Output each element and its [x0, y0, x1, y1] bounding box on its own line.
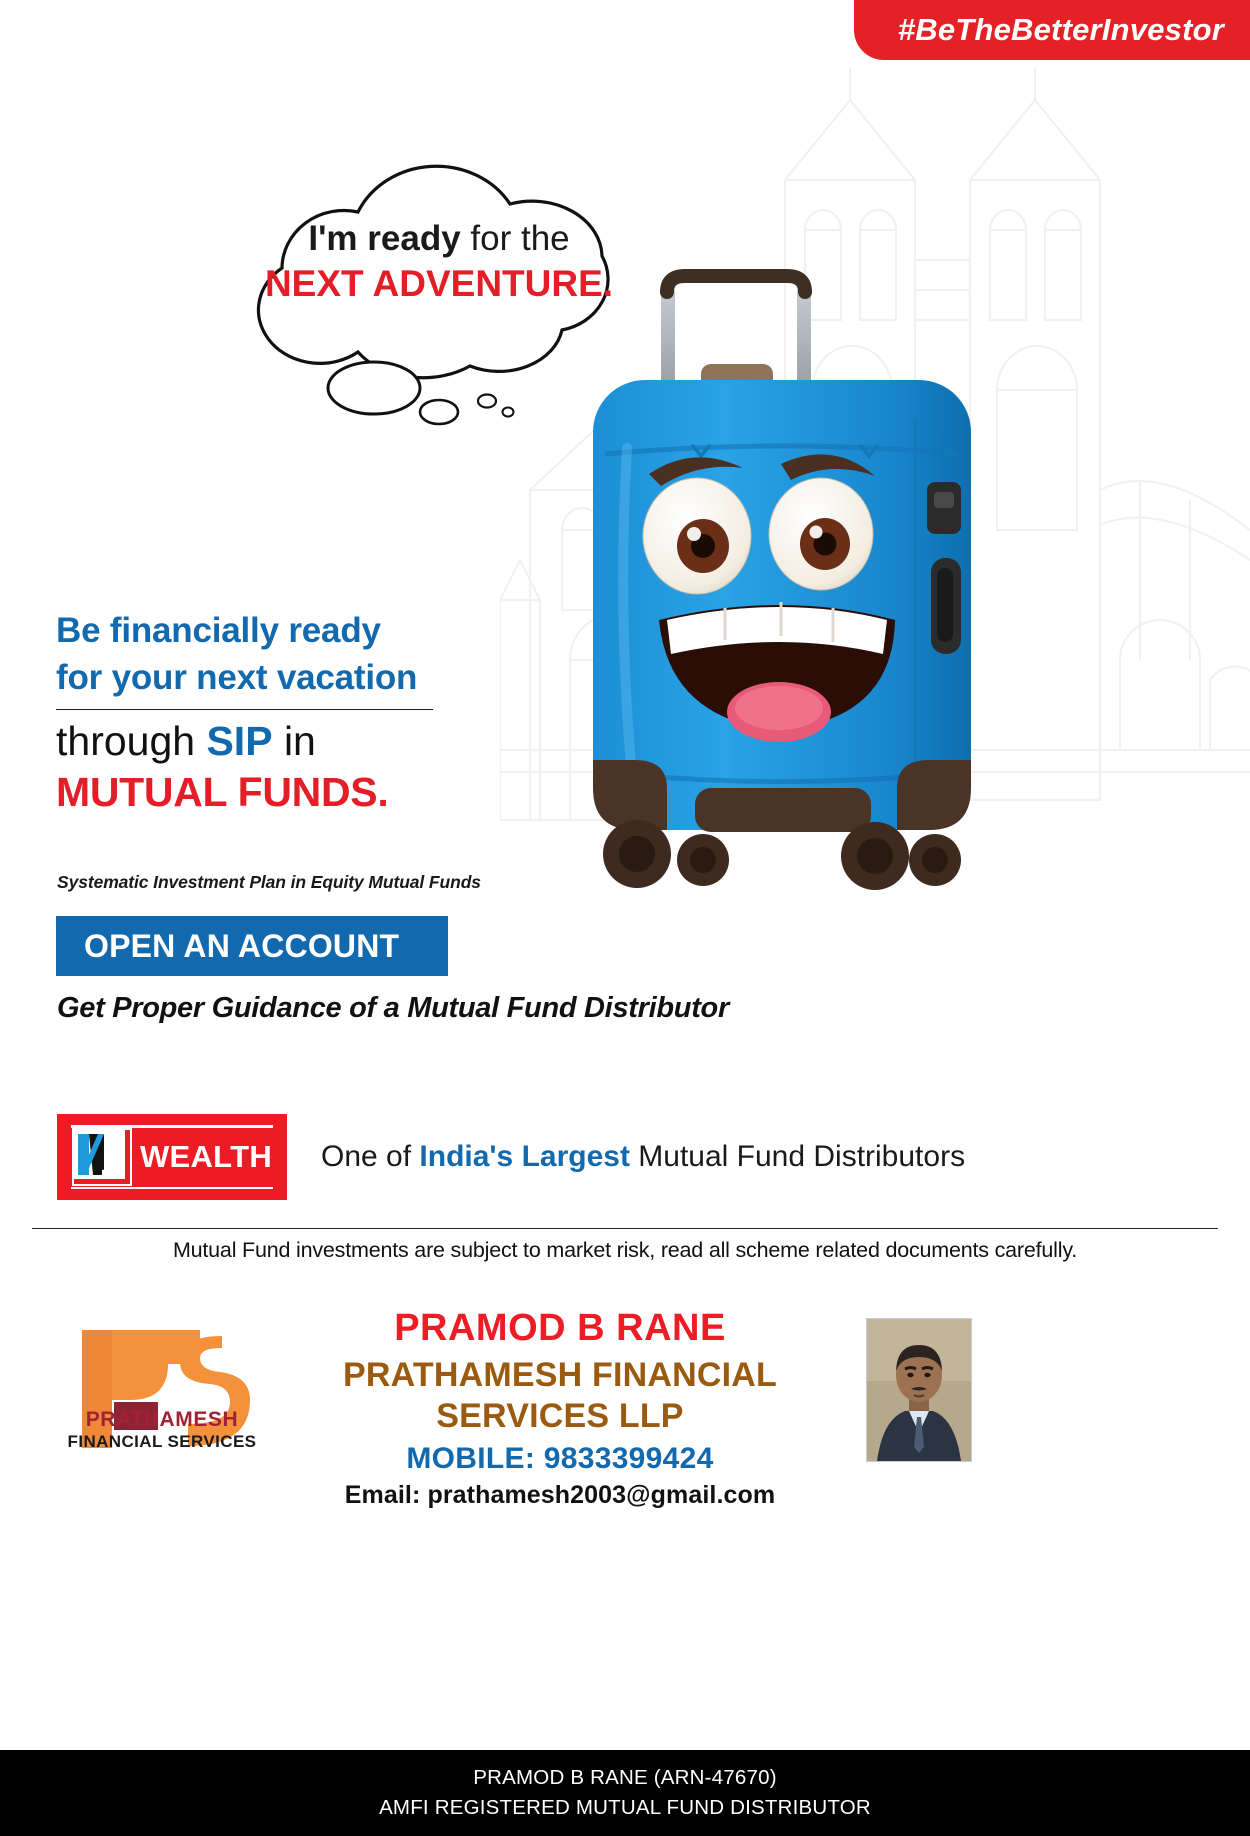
advisor-photo	[866, 1318, 972, 1462]
suitcase-character-illustration	[575, 268, 995, 908]
advisor-name: PRAMOD B RANE	[270, 1306, 850, 1351]
headline-divider	[56, 709, 433, 710]
headline-sip-bold: SIP	[206, 718, 272, 764]
nj-logo-rule-bottom	[71, 1187, 273, 1190]
nj-wealth-row: WEALTH One of India's Largest Mutual Fun…	[57, 1114, 965, 1200]
headline-blue-line-1: Be financially ready	[56, 608, 526, 655]
headline-sip-line: through SIP in	[56, 716, 526, 767]
hashtag-text: #BeTheBetterInvestor	[898, 12, 1224, 48]
nj-monogram-icon	[72, 1128, 132, 1186]
prathamesh-logo-name: PRATHAMESH	[72, 1408, 252, 1432]
sip-caption: Systematic Investment Plan in Equity Mut…	[57, 872, 481, 893]
advisor-firm: PRATHAMESH FINANCIAL SERVICES LLP	[270, 1355, 850, 1437]
flyer-page: #BeTheBetterInvestor I'm ready for the N…	[0, 0, 1250, 1836]
headline-blue-line-2: for your next vacation	[56, 655, 526, 702]
prathamesh-logo-subtitle: FINANCIAL SERVICES	[66, 1432, 258, 1452]
thought-bubble-line-1: I'm ready for the	[244, 218, 634, 259]
nj-tagline-suffix: Mutual Fund Distributors	[630, 1140, 965, 1173]
nj-tagline-bold: India's Largest	[419, 1140, 630, 1173]
advisor-email[interactable]: Email: prathamesh2003@gmail.com	[270, 1481, 850, 1510]
thought-bubble-rest: for the	[461, 219, 570, 258]
nj-wealth-logo: WEALTH	[57, 1114, 287, 1200]
footer-line-1: PRAMOD B RANE (ARN-47670)	[473, 1763, 776, 1793]
open-an-account-button[interactable]: OPEN AN ACCOUNT	[56, 916, 448, 976]
advisor-mobile[interactable]: MOBILE: 9833399424	[270, 1442, 850, 1476]
guidance-line: Get Proper Guidance of a Mutual Fund Dis…	[57, 992, 729, 1025]
open-an-account-label: OPEN AN ACCOUNT	[56, 928, 399, 965]
footer-line-2: AMFI REGISTERED MUTUAL FUND DISTRIBUTOR	[379, 1793, 871, 1823]
headline-block: Be financially ready for your next vacat…	[56, 608, 526, 817]
hashtag-banner: #BeTheBetterInvestor	[854, 0, 1250, 60]
disclaimer-text: Mutual Fund investments are subject to m…	[0, 1238, 1250, 1263]
disclaimer-divider	[32, 1228, 1218, 1229]
headline-sip-suffix: in	[273, 718, 316, 764]
footer-bar: PRAMOD B RANE (ARN-47670) AMFI REGISTERE…	[0, 1750, 1250, 1836]
thought-bubble-bold: I'm ready	[308, 219, 460, 258]
headline-mutual-funds: MUTUAL FUNDS.	[56, 767, 526, 817]
nj-wealth-text: WEALTH	[140, 1139, 272, 1175]
nj-tagline-prefix: One of	[321, 1140, 419, 1173]
nj-tagline: One of India's Largest Mutual Fund Distr…	[321, 1140, 965, 1174]
headline-sip-prefix: through	[56, 718, 206, 764]
advisor-info-block: PRAMOD B RANE PRATHAMESH FINANCIAL SERVI…	[270, 1306, 850, 1510]
